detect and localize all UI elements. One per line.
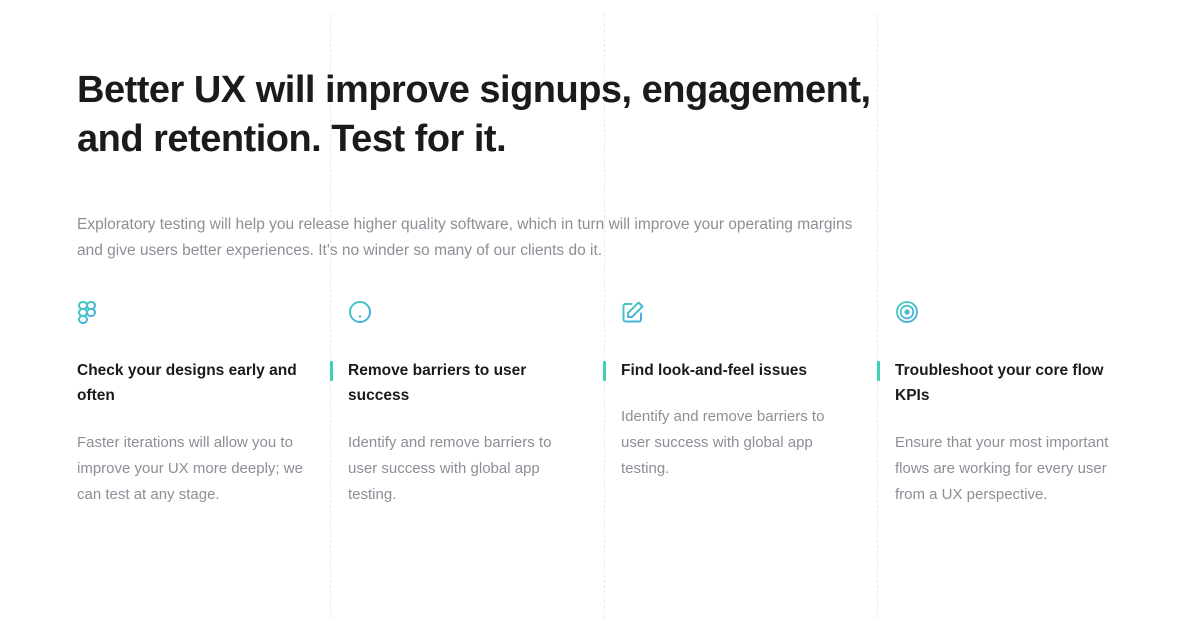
feature-heading: Troubleshoot your core flow KPIs — [895, 358, 1123, 408]
figma-icon — [77, 300, 305, 334]
feature-heading-text: Check your designs early and often — [77, 362, 297, 404]
feature-body: Identify and remove barriers to user suc… — [621, 404, 849, 481]
edit-square-icon — [621, 300, 849, 334]
accent-bar — [877, 361, 880, 381]
feature-body: Ensure that your most important flows ar… — [895, 430, 1123, 507]
feature-heading-text: Remove barriers to user success — [348, 362, 526, 404]
feature-card: Troubleshoot your core flow KPIs Ensure … — [895, 300, 1123, 508]
feature-body: Identify and remove barriers to user suc… — [348, 430, 576, 507]
feature-heading: Find look-and-feel issues — [621, 358, 849, 383]
accent-bar — [603, 361, 606, 381]
feature-heading-text: Troubleshoot your core flow KPIs — [895, 362, 1103, 404]
page-title: Better UX will improve signups, engageme… — [77, 66, 897, 163]
feature-card: Find look-and-feel issues Identify and r… — [621, 300, 849, 482]
feature-columns: Check your designs early and often Faste… — [0, 300, 1200, 600]
intro-paragraph: Exploratory testing will help you releas… — [77, 212, 867, 264]
alert-circle-icon — [348, 300, 576, 334]
target-icon — [895, 300, 1123, 334]
feature-heading: Remove barriers to user success — [348, 358, 576, 408]
feature-body: Faster iterations will allow you to impr… — [77, 430, 305, 507]
feature-heading-text: Find look-and-feel issues — [621, 362, 807, 379]
page-root: Better UX will improve signups, engageme… — [0, 0, 1200, 630]
feature-heading: Check your designs early and often — [77, 358, 305, 408]
accent-bar — [330, 361, 333, 381]
feature-card: Remove barriers to user success Identify… — [348, 300, 576, 508]
feature-card: Check your designs early and often Faste… — [77, 300, 305, 508]
